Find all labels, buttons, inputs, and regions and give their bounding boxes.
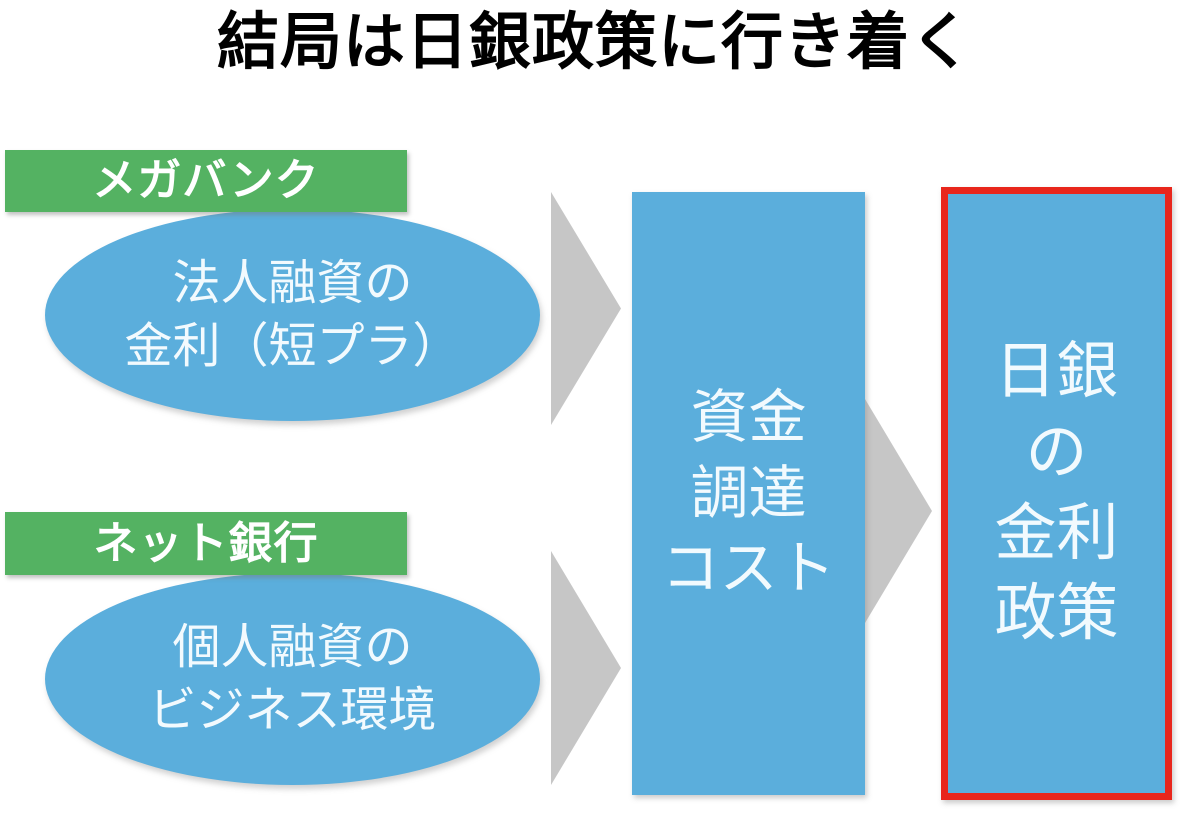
- box-line-2: 調達: [690, 456, 806, 531]
- box-funding-cost: 資金 調達 コスト: [632, 192, 865, 795]
- arrow-right-icon-individual-to-cost: [551, 551, 621, 785]
- bubble-corporate-lending: 法人融資の 金利（短プラ）: [45, 209, 540, 421]
- group-label-text: メガバンク: [92, 159, 319, 203]
- bubble-line-2: 金利（短プラ）: [124, 315, 460, 378]
- group-label-text: ネット銀行: [94, 522, 319, 566]
- box-line-1: 日銀: [994, 332, 1118, 413]
- box-line-4: 政策: [994, 574, 1118, 655]
- bubble-line-1: 法人融資の: [172, 252, 412, 315]
- slide-canvas: 結局は日銀政策に行き着く メガバンク 法人融資の 金利（短プラ） ネット銀行 個…: [0, 0, 1190, 816]
- page-title: 結局は日銀政策に行き着く: [0, 12, 1190, 74]
- arrow-right-icon-cost-to-boj: [862, 394, 932, 628]
- bubble-individual-lending: 個人融資の ビジネス環境: [45, 573, 540, 785]
- group-label-mega-bank: メガバンク: [5, 150, 407, 212]
- box-line-2: の: [1025, 413, 1087, 494]
- arrow-right-icon-corporate-to-cost: [551, 192, 621, 425]
- bubble-line-2: ビジネス環境: [148, 679, 436, 742]
- box-line-3: コスト: [661, 531, 835, 606]
- bubble-line-1: 個人融資の: [172, 616, 412, 679]
- group-label-net-bank: ネット銀行: [5, 512, 407, 575]
- box-line-1: 資金: [690, 380, 806, 455]
- box-boj-rate-policy: 日銀 の 金利 政策: [941, 187, 1172, 800]
- box-line-3: 金利: [994, 494, 1118, 575]
